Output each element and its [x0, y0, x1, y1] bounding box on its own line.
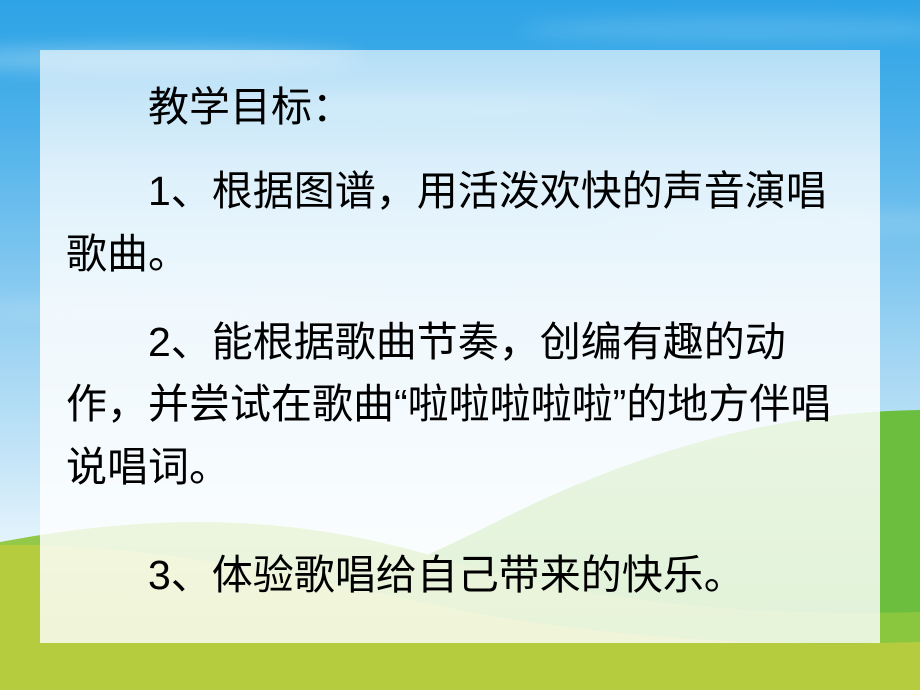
page-title: 教学目标： — [66, 76, 854, 138]
objective-item-3: 3、体验歌唱给自己带来的快乐。 — [66, 544, 854, 606]
objectives-text-block: 教学目标： 1、根据图谱，用活泼欢快的声音演唱歌曲。 2、能根据歌曲节奏，创编有… — [66, 76, 854, 606]
content-panel: 教学目标： 1、根据图谱，用活泼欢快的声音演唱歌曲。 2、能根据歌曲节奏，创编有… — [40, 50, 880, 643]
objective-item-1: 1、根据图谱，用活泼欢快的声音演唱歌曲。 — [66, 160, 854, 285]
slide-canvas: 教学目标： 1、根据图谱，用活泼欢快的声音演唱歌曲。 2、能根据歌曲节奏，创编有… — [0, 0, 920, 690]
objective-item-2: 2、能根据歌曲节奏，创编有趣的动作，并尝试在歌曲“啦啦啦啦啦”的地方伴唱说唱词。 — [66, 311, 854, 498]
